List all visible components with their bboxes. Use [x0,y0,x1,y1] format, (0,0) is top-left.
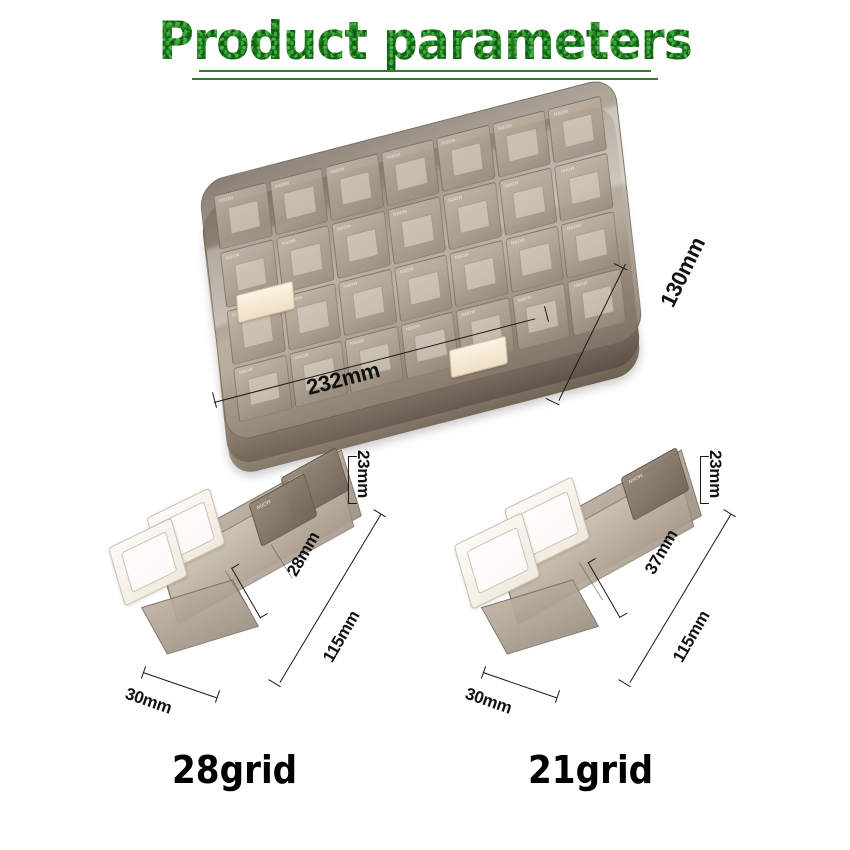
tray-front-face [141,579,259,654]
dimension-label-total-length: 115mm [319,607,364,666]
dimtick-total-start [268,679,281,687]
title-divider-lower [192,78,658,80]
variant-label-21grid: 21grid [528,748,653,792]
dimension-label-height: 23mm [705,450,725,498]
dimension-label-width: 30mm [122,684,174,719]
dimension-label-total-length: 115mm [669,607,714,666]
title-divider-upper [199,70,651,72]
variant-28grid-illustration: MORN MORN 23mm 28mm 115mm 30mm [105,440,405,700]
dimtick-total-start [618,679,631,687]
lid-label: MORN [256,497,271,510]
variant-21grid-illustration: MORN 23mm 37mm 115mm 30mm [445,440,745,700]
product-parameters-infographic: Product parameters MORN MORN MORN MORN M… [0,0,850,850]
variant-label-28grid: 28grid [172,748,297,792]
page-title-block: Product parameters [0,14,850,70]
lid-label: MORN [628,471,643,484]
page-title: Product parameters [158,14,692,70]
dimension-label-width: 30mm [462,684,514,719]
dimtick-width-end [215,690,221,703]
dimtick-width-end [555,690,561,703]
dimension-label-height: 23mm [353,450,373,498]
main-box-illustration: MORN MORN MORN MORN MORN MORN MORN MORN … [196,104,666,444]
